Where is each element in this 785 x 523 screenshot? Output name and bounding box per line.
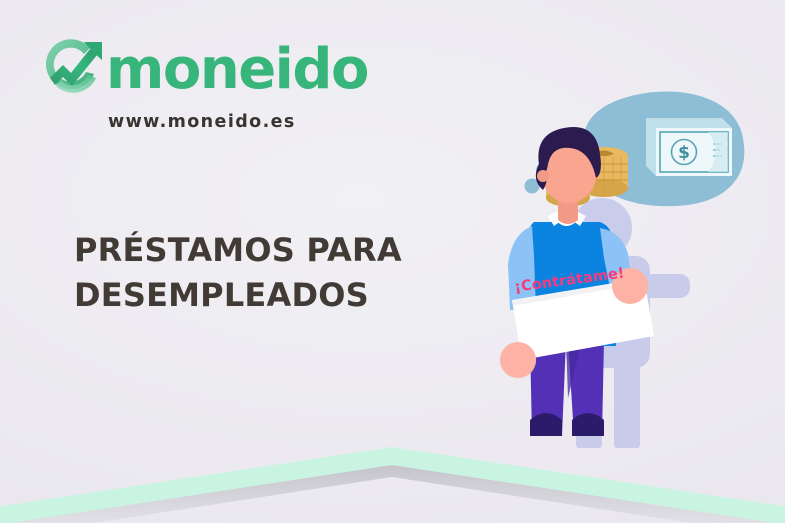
headline-line-1: PRÉSTAMOS PARA <box>74 231 402 269</box>
promo-banner: moneido www.moneido.es PRÉSTAMOS PARA DE… <box>0 0 785 523</box>
brand-logo[interactable]: moneido www.moneido.es <box>36 34 366 132</box>
dollar-bill-icon: $ <box>646 118 732 176</box>
brand-name: moneido <box>106 42 368 98</box>
circular-arrow-chart-icon <box>36 34 112 106</box>
headline-line-2: DESEMPLEADOS <box>74 273 494 318</box>
page-title: PRÉSTAMOS PARA DESEMPLEADOS <box>74 228 494 319</box>
hand-right-front <box>612 268 648 304</box>
logo-row: moneido <box>36 34 366 106</box>
illustration-svg: $ <box>470 78 770 448</box>
svg-text:$: $ <box>678 143 690 163</box>
illustration: $ <box>470 78 770 448</box>
hand-left-front <box>500 342 536 378</box>
brand-url: www.moneido.es <box>108 112 366 132</box>
